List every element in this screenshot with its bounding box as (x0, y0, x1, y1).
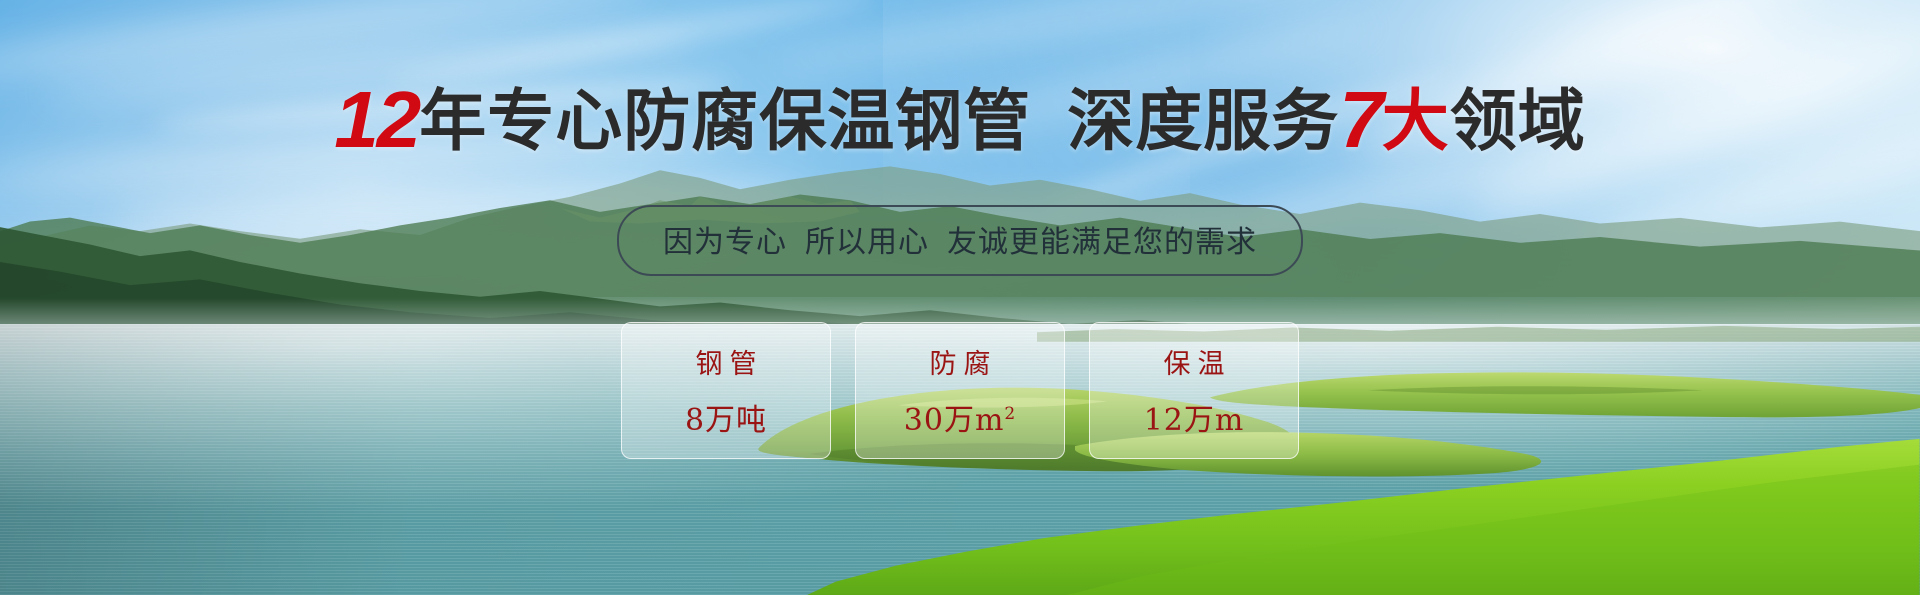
headline-part-three-red: 大 (1382, 84, 1450, 159)
headline-part-one: 年专心防腐保温钢管 (419, 84, 1031, 159)
stat-card-anticorrosion[interactable]: 防腐 30万m2 (855, 322, 1065, 459)
stat-card-value-text: 12万m (1144, 403, 1245, 438)
sky-background (0, 0, 1920, 369)
slogan-seg-2: 所以用心 (805, 226, 929, 259)
stat-card-insulation[interactable]: 保温 12万m (1089, 322, 1299, 459)
headline: 12年专心防腐保温钢管深度服务7大领域 (0, 80, 1920, 160)
headline-years-number: 12 (334, 75, 419, 164)
headline-fields-number: 7 (1339, 75, 1382, 164)
stat-card-steel-pipe[interactable]: 钢管 8万吨 (621, 322, 831, 459)
stat-card-title: 防腐 (923, 342, 998, 381)
stat-card-value-superscript: 2 (1004, 404, 1016, 424)
slogan-seg-3: 友诚更能满足您的需求 (947, 226, 1257, 259)
headline-part-three: 领域 (1450, 84, 1586, 159)
slogan-pill: 因为专心所以用心友诚更能满足您的需求 (617, 205, 1303, 276)
stat-card-group: 钢管 8万吨 防腐 30万m2 保温 12万m (621, 322, 1299, 459)
stat-card-value-text: 8万吨 (685, 403, 767, 438)
headline-part-two: 深度服务 (1067, 84, 1339, 159)
stat-card-title: 保温 (1157, 342, 1232, 381)
stat-card-value: 12万m (1144, 395, 1245, 439)
stat-card-value: 30万m2 (904, 395, 1016, 439)
stat-card-value: 8万吨 (685, 395, 767, 439)
slogan-seg-1: 因为专心 (663, 226, 787, 259)
stat-card-title: 钢管 (689, 342, 764, 381)
stat-card-value-text: 30万m (904, 403, 1005, 438)
hero-banner: 12年专心防腐保温钢管深度服务7大领域 因为专心所以用心友诚更能满足您的需求 钢… (0, 0, 1920, 595)
